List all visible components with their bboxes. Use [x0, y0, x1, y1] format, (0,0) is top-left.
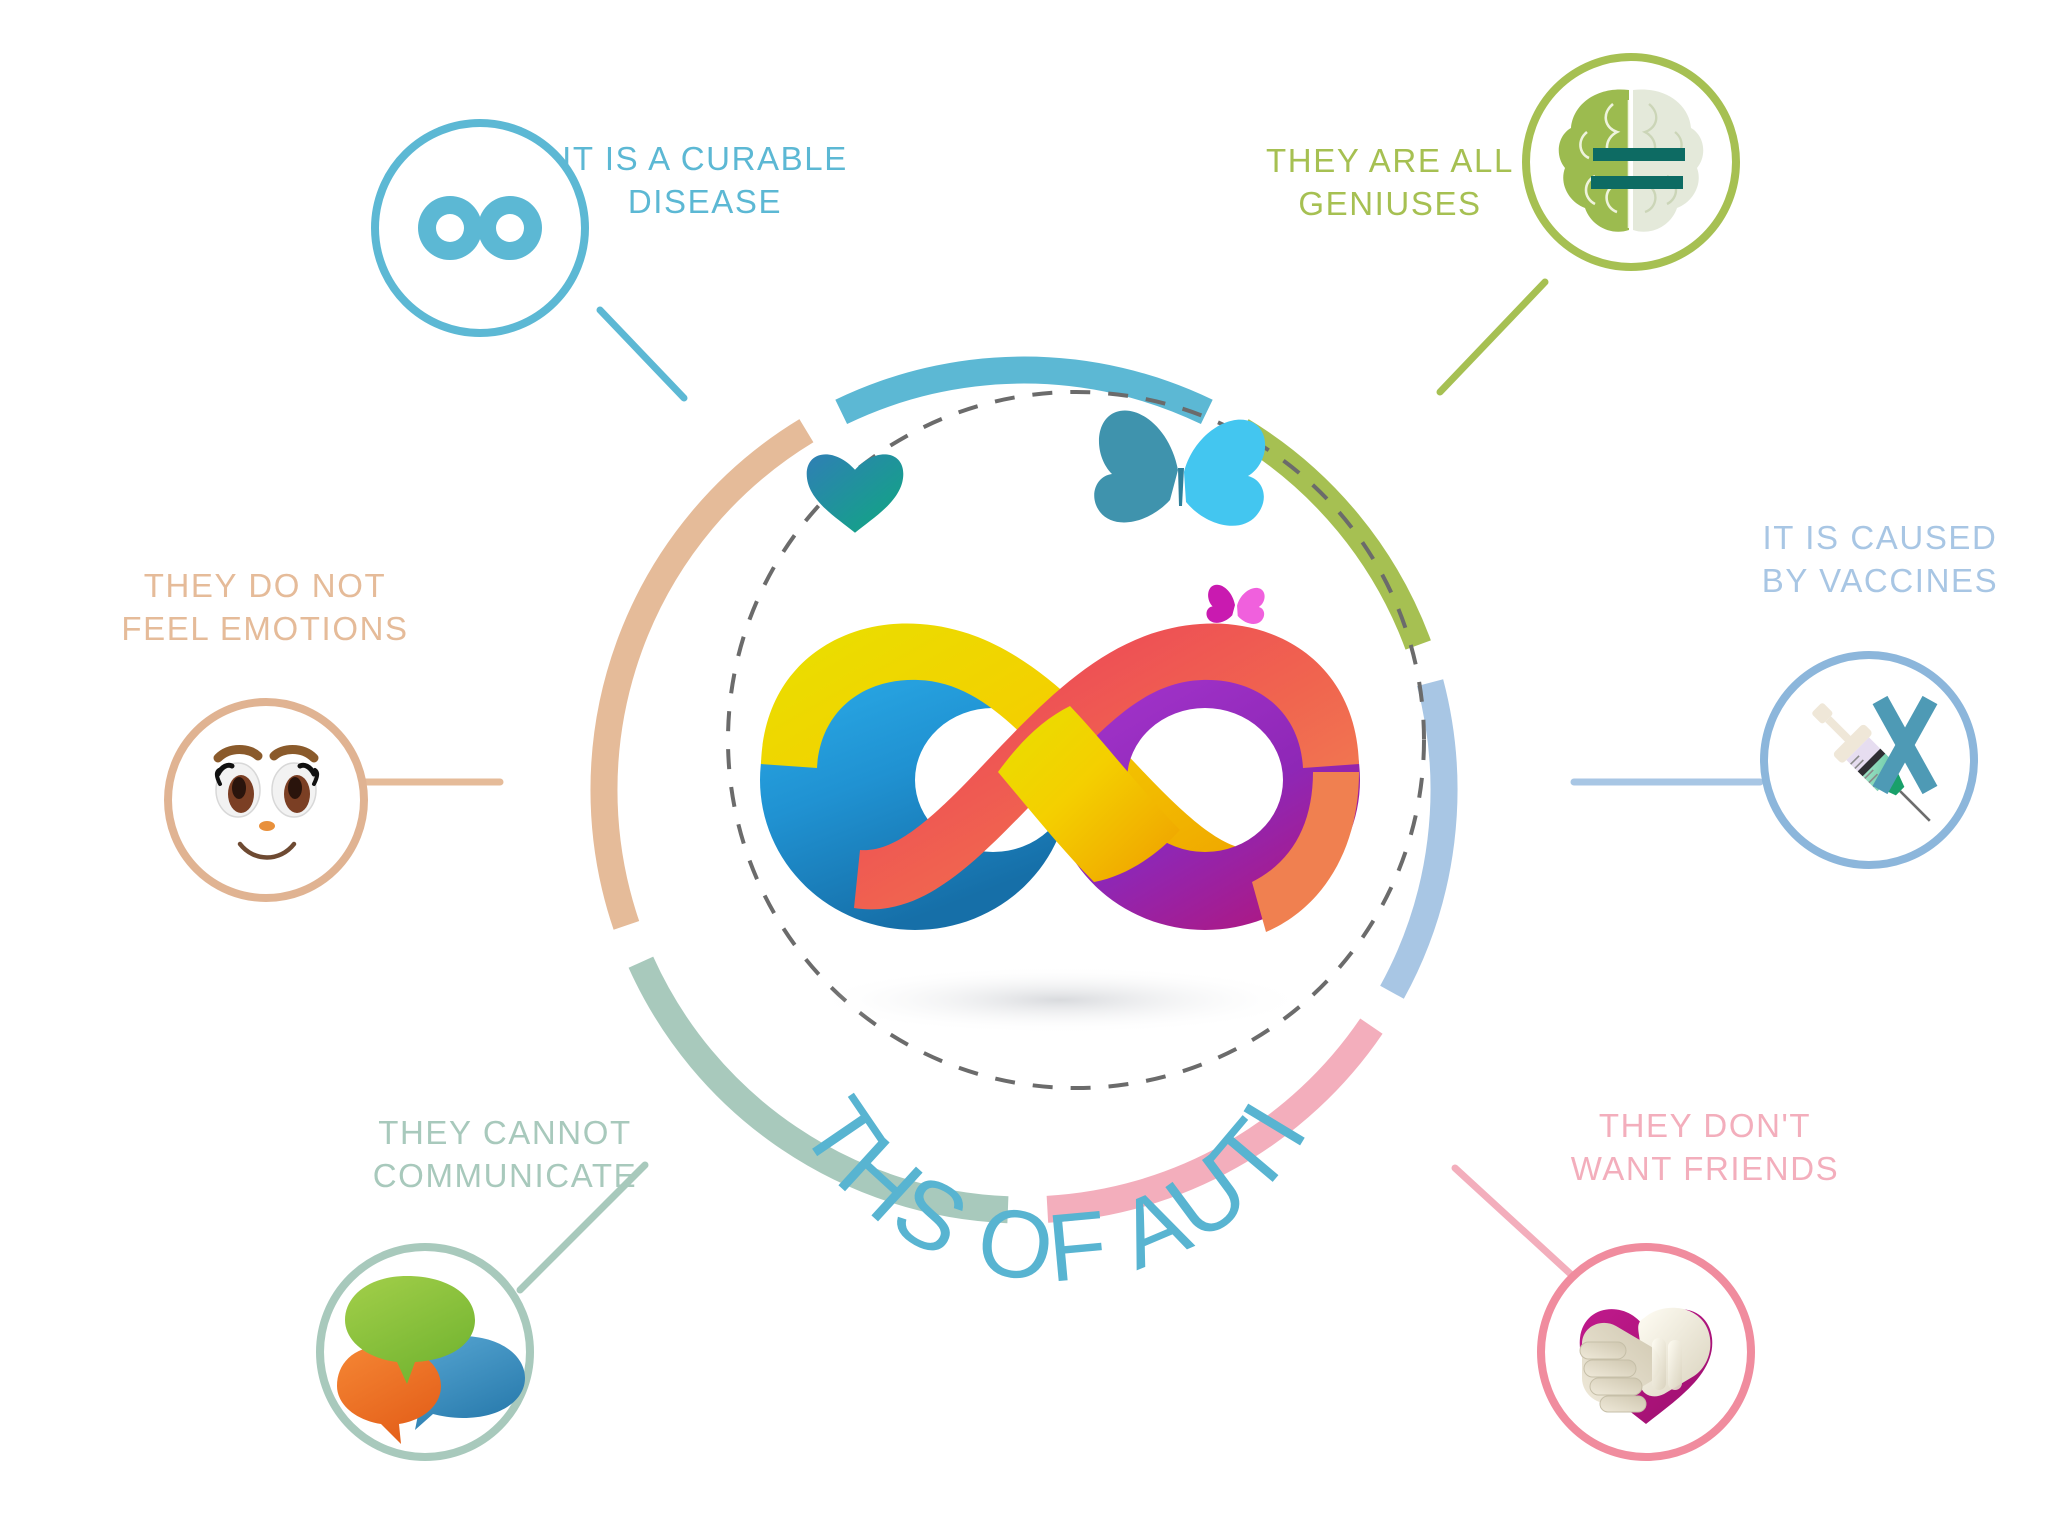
autism-infinity-logo	[760, 623, 1360, 932]
icon-bubble-dont-want-friends[interactable]	[1541, 1247, 1751, 1457]
icon-bubble-all-geniuses[interactable]	[1526, 57, 1736, 267]
label-curable-disease: IT IS A CURABLE DISEASE	[545, 138, 865, 224]
arc-caused-by-vaccines	[1392, 683, 1444, 993]
label-all-geniuses: THEY ARE ALL GENIUSES	[1230, 140, 1550, 226]
logo-shadow	[810, 966, 1310, 1034]
arc-do-not-feel-emotions	[604, 431, 806, 926]
connector-curable-disease	[600, 310, 684, 398]
icon-bubble-cannot-communicate[interactable]	[320, 1247, 530, 1457]
ring-diagram: MYTHS OF AUTISM	[0, 0, 2048, 1536]
label-caused-by-vaccines: IT IS CAUSED BY VACCINES	[1720, 517, 2040, 603]
heart-icon	[807, 454, 904, 532]
equals-icon	[1593, 148, 1685, 161]
label-dont-want-friends: THEY DON'T WANT FRIENDS	[1545, 1105, 1865, 1191]
label-cannot-communicate: THEY CANNOT COMMUNICATE	[345, 1112, 665, 1198]
infographic-canvas: MYTHS OF AUTISM	[0, 0, 2048, 1536]
label-do-not-feel-emotions: THEY DO NOT FEEL EMOTIONS	[105, 565, 425, 651]
connector-all-geniuses	[1440, 282, 1545, 392]
arc-curable-disease	[841, 370, 1207, 412]
butterfly-small-icon	[1207, 585, 1265, 624]
arc-all-geniuses	[1242, 431, 1419, 645]
icon-bubble-do-not-feel-emotions[interactable]	[168, 702, 364, 898]
icon-bubble-caused-by-vaccines[interactable]	[1764, 655, 1974, 865]
butterfly-large-icon	[1094, 410, 1265, 525]
